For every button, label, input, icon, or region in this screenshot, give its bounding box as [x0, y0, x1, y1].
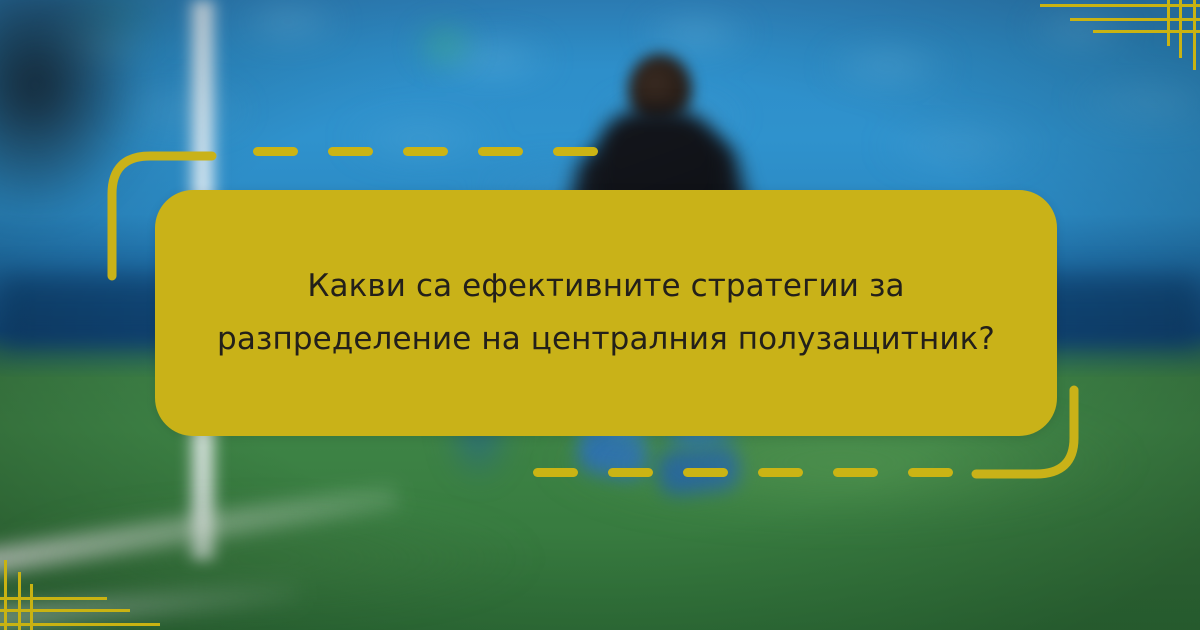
dash-segment [328, 147, 373, 156]
headline-card: Какви са ефективните стратегии за разпре… [155, 190, 1057, 436]
dash-segment [533, 468, 578, 477]
frame-line-h1 [1040, 4, 1200, 7]
dash-segment [908, 468, 953, 477]
corner-frame-bottom-left [0, 560, 160, 630]
top-dashed-rule [253, 147, 598, 156]
frame-line-v2 [1179, 0, 1182, 58]
frame-line-h1 [0, 623, 160, 626]
dash-segment [683, 468, 728, 477]
dash-segment [253, 147, 298, 156]
dash-segment [478, 147, 523, 156]
frame-line-v3 [1167, 0, 1170, 46]
dash-segment [758, 468, 803, 477]
corner-frame-top-right [1040, 0, 1200, 70]
dash-segment [833, 468, 878, 477]
frame-line-v1 [4, 560, 7, 630]
page-title: Какви са ефективните стратегии за разпре… [211, 260, 1001, 367]
dash-segment [608, 468, 653, 477]
frame-line-v2 [18, 572, 21, 630]
frame-line-h3 [0, 597, 107, 600]
frame-line-h3 [1093, 30, 1200, 33]
share-card-canvas: Какви са ефективните стратегии за разпре… [0, 0, 1200, 630]
bracket-bottom-right [1068, 390, 1188, 490]
dash-segment [553, 147, 598, 156]
frame-line-v3 [30, 584, 33, 630]
frame-line-v1 [1193, 0, 1196, 70]
bottom-dashed-rule [533, 468, 953, 477]
dash-segment [403, 147, 448, 156]
